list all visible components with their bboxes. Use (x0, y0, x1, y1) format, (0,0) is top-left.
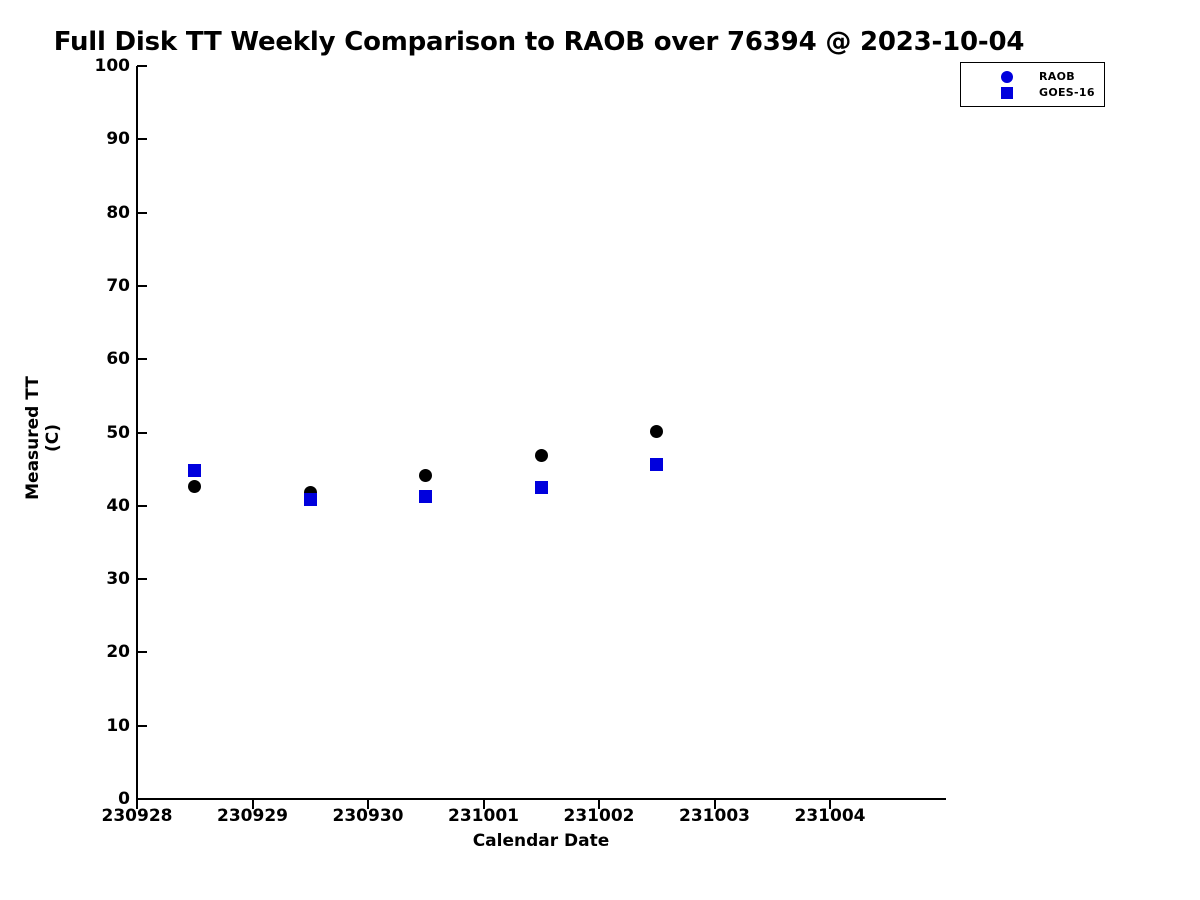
chart-figure: Full Disk TT Weekly Comparison to RAOB o… (0, 0, 1200, 900)
data-point-raob (535, 449, 548, 462)
y-tick-label: 20 (70, 642, 130, 662)
legend-label: RAOB (1039, 70, 1075, 83)
data-point-goes-16 (304, 493, 317, 506)
legend-label: GOES-16 (1039, 86, 1095, 99)
data-point-goes-16 (650, 458, 663, 471)
y-tick-label: 80 (70, 203, 130, 223)
data-point-raob (650, 425, 663, 438)
chart-title: Full Disk TT Weekly Comparison to RAOB o… (0, 27, 1078, 57)
legend-swatch (1001, 87, 1013, 99)
y-tick-label: 100 (70, 56, 130, 76)
y-tick-label: 50 (70, 423, 130, 443)
data-point-goes-16 (419, 490, 432, 503)
data-point-raob (419, 469, 432, 482)
data-point-goes-16 (535, 481, 548, 494)
data-point-raob (188, 480, 201, 493)
legend-marker-circle-icon (999, 69, 1015, 85)
y-tick-label: 10 (70, 716, 130, 736)
chart-legend: RAOBGOES-16 (960, 62, 1105, 107)
y-tick-label: 70 (70, 276, 130, 296)
y-tick-label: 90 (70, 129, 130, 149)
legend-item: GOES-16 (961, 85, 1104, 101)
legend-swatch (1001, 71, 1013, 83)
y-tick-label: 30 (70, 569, 130, 589)
y-tick-label: 40 (70, 496, 130, 516)
x-axis-label: Calendar Date (137, 831, 945, 851)
y-axis-label: Measured TT (C) (23, 368, 63, 508)
y-tick-label: 60 (70, 349, 130, 369)
x-tick-label: 231004 (760, 806, 900, 826)
legend-marker-square-icon (999, 85, 1015, 101)
data-point-goes-16 (188, 464, 201, 477)
legend-item: RAOB (961, 69, 1104, 85)
plot-area (137, 66, 945, 799)
